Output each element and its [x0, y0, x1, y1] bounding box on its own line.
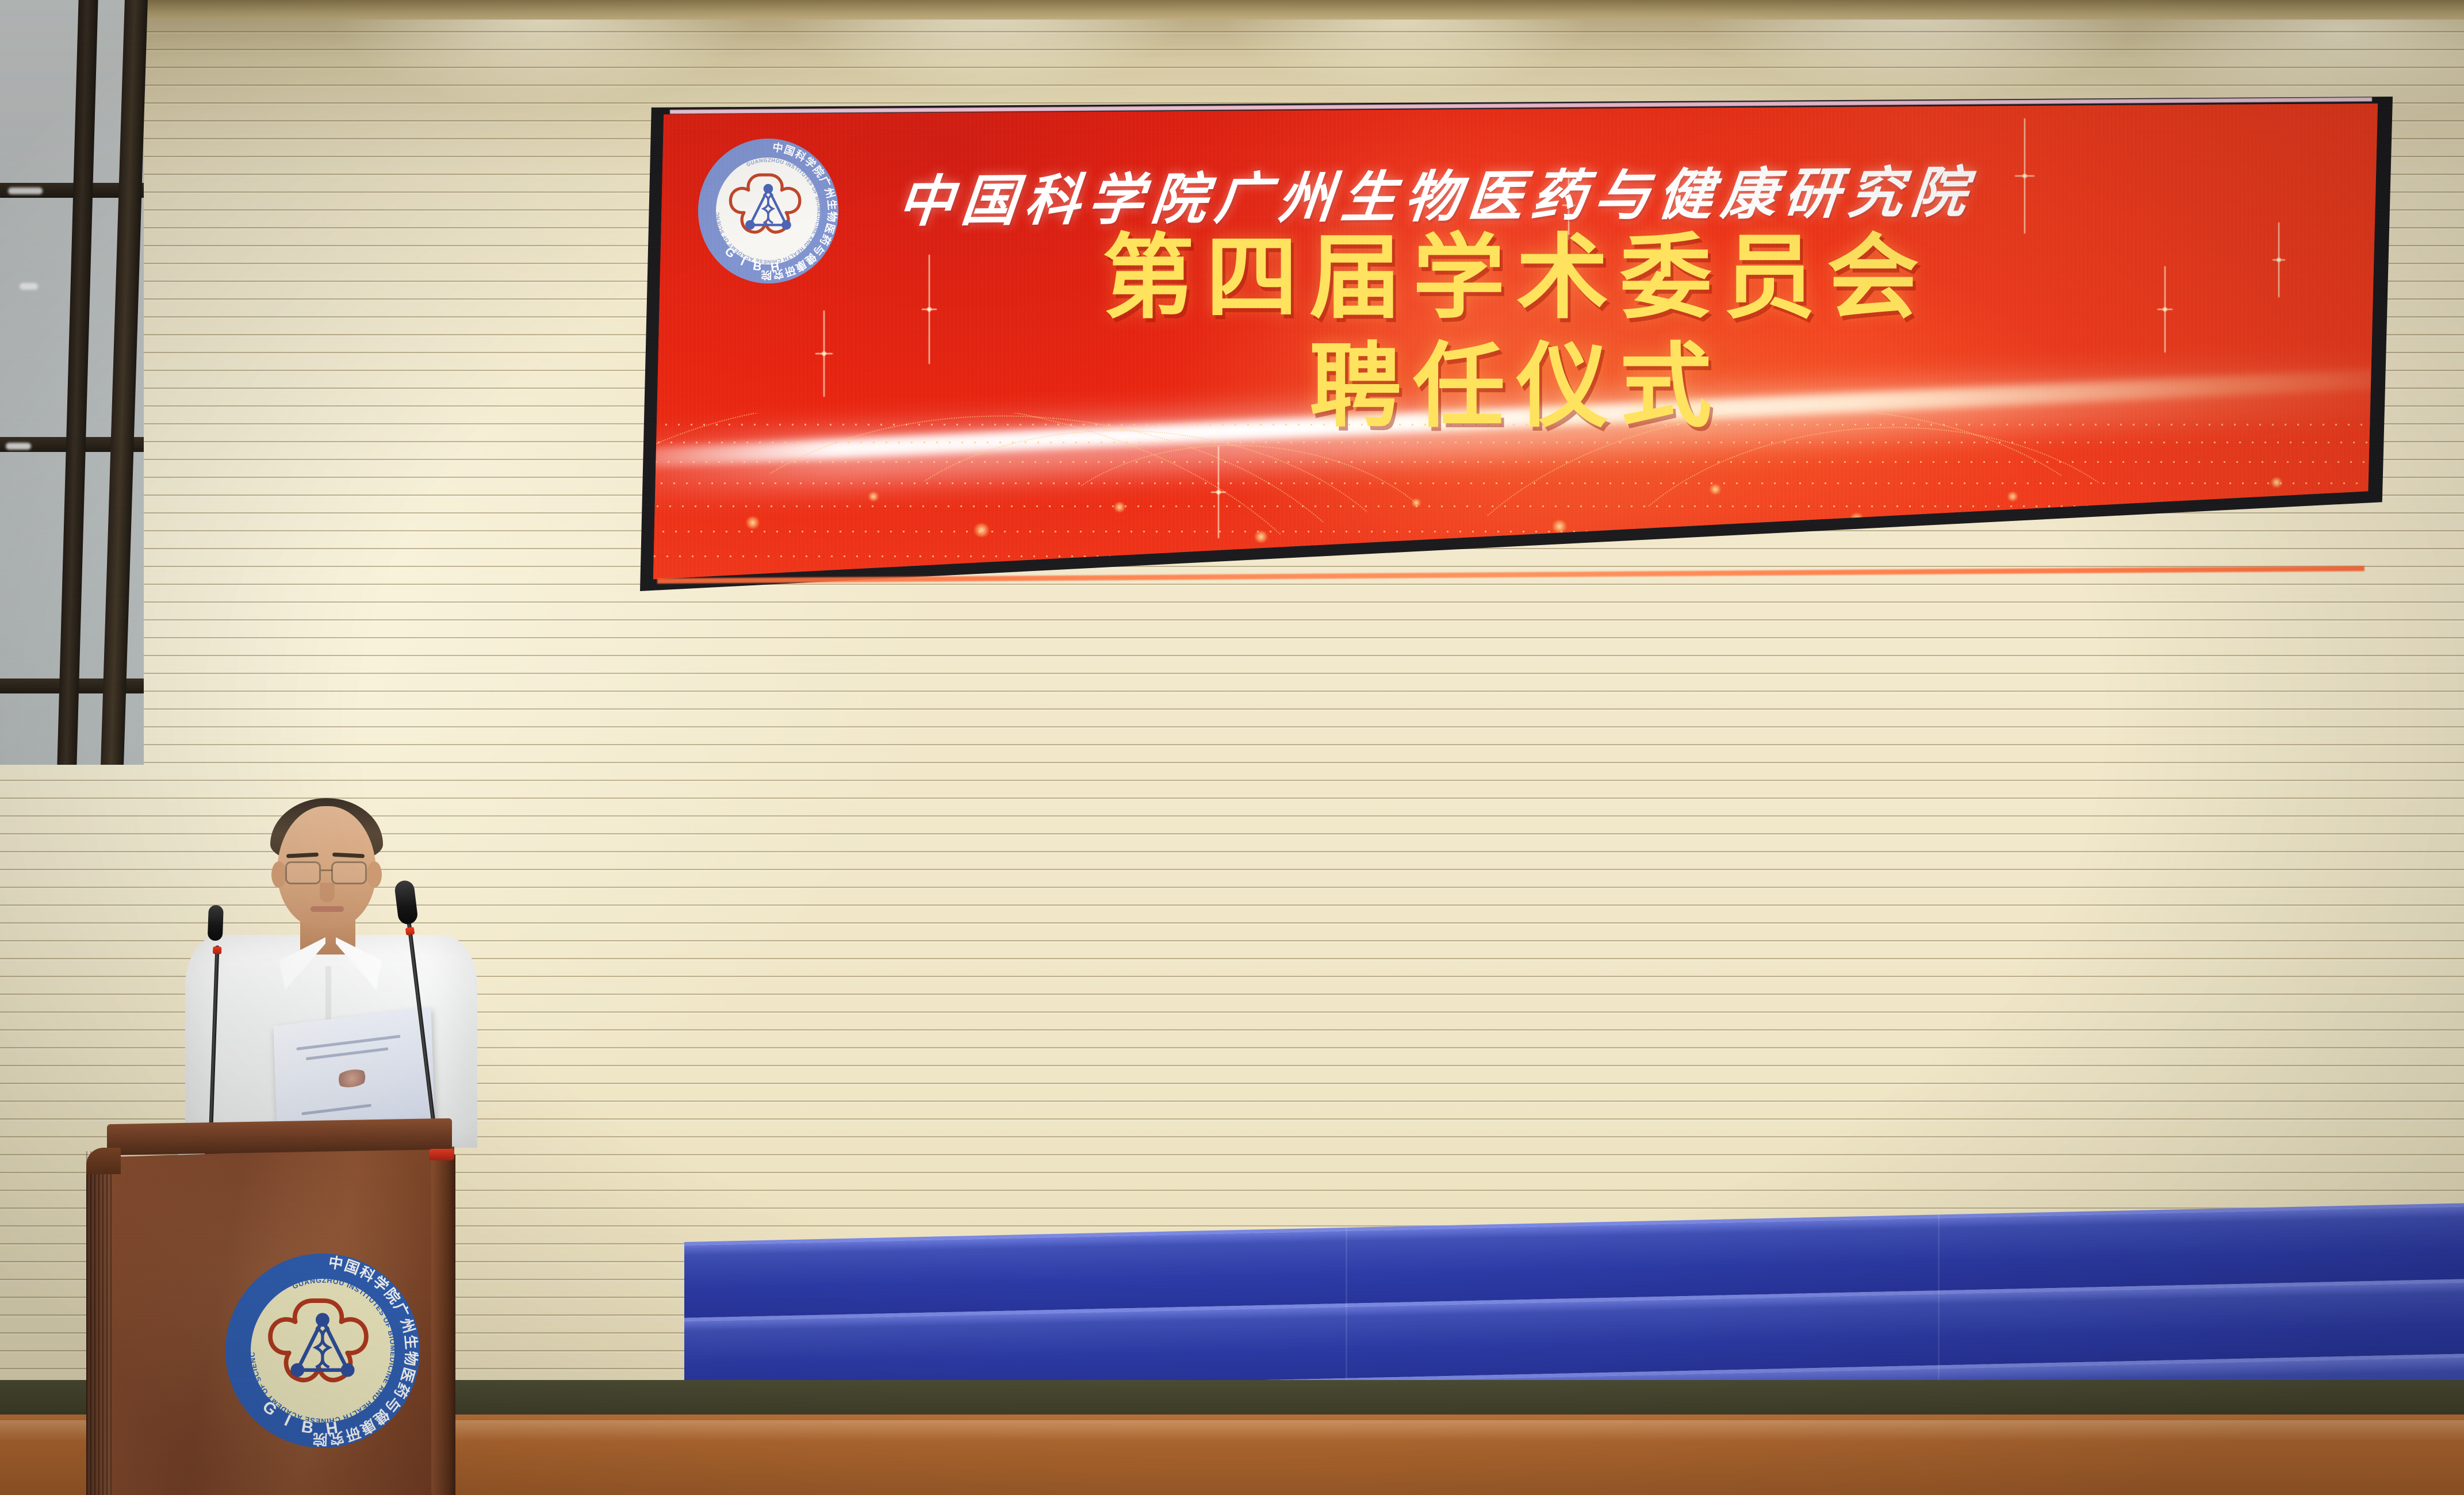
podium-left-curve — [86, 1148, 121, 1174]
eyeglasses-bridge — [321, 869, 332, 871]
left-door-frame — [0, 0, 144, 765]
speaker-ear — [367, 861, 382, 888]
led-display: 中国科学院广州生物医药与健康研究院 GUANGZHOU INSTITUTES O… — [640, 97, 2393, 591]
document-logo — [335, 1068, 369, 1089]
slide-content: 中国科学院广州生物医药与健康研究院 GUANGZHOU INSTITUTES O… — [640, 97, 2393, 591]
podium-red-accent — [429, 1149, 454, 1160]
speaker-nose — [320, 883, 335, 902]
screenshot-root: 中国科学院广州生物医药与健康研究院 GUANGZHOU INSTITUTES O… — [0, 0, 2464, 1495]
podium: 中国科学院广州生物医药与健康研究院 GUANGZHOU INSTITUTES O… — [86, 1121, 454, 1495]
eyeglasses-lens — [331, 861, 367, 884]
speaker-mouth — [311, 906, 344, 912]
podium-top-ledge — [107, 1118, 452, 1155]
podium-right-edge — [431, 1155, 455, 1495]
led-panel: 中国科学院广州生物医药与健康研究院 GUANGZHOU INSTITUTES O… — [640, 97, 2393, 591]
door-glass-highlight — [20, 283, 38, 290]
screen-title-line-2: 聘任仪式 — [640, 312, 2393, 445]
door-glass-highlight — [6, 443, 31, 450]
podium-and-speaker: 中国科学院广州生物医药与健康研究院 GUANGZHOU INSTITUTES O… — [86, 793, 661, 1495]
door-glass-highlight — [8, 187, 43, 194]
podium-left-fluting — [86, 1151, 112, 1495]
speaker-ear — [271, 861, 286, 888]
institute-emblem-on-podium: 中国科学院广州生物医药与健康研究院 GUANGZHOU INSTITUTES O… — [225, 1253, 420, 1448]
eyeglasses-lens — [285, 861, 321, 884]
ceiling-strip — [0, 0, 2464, 20]
emblem-blossom-and-dna — [256, 1283, 389, 1415]
